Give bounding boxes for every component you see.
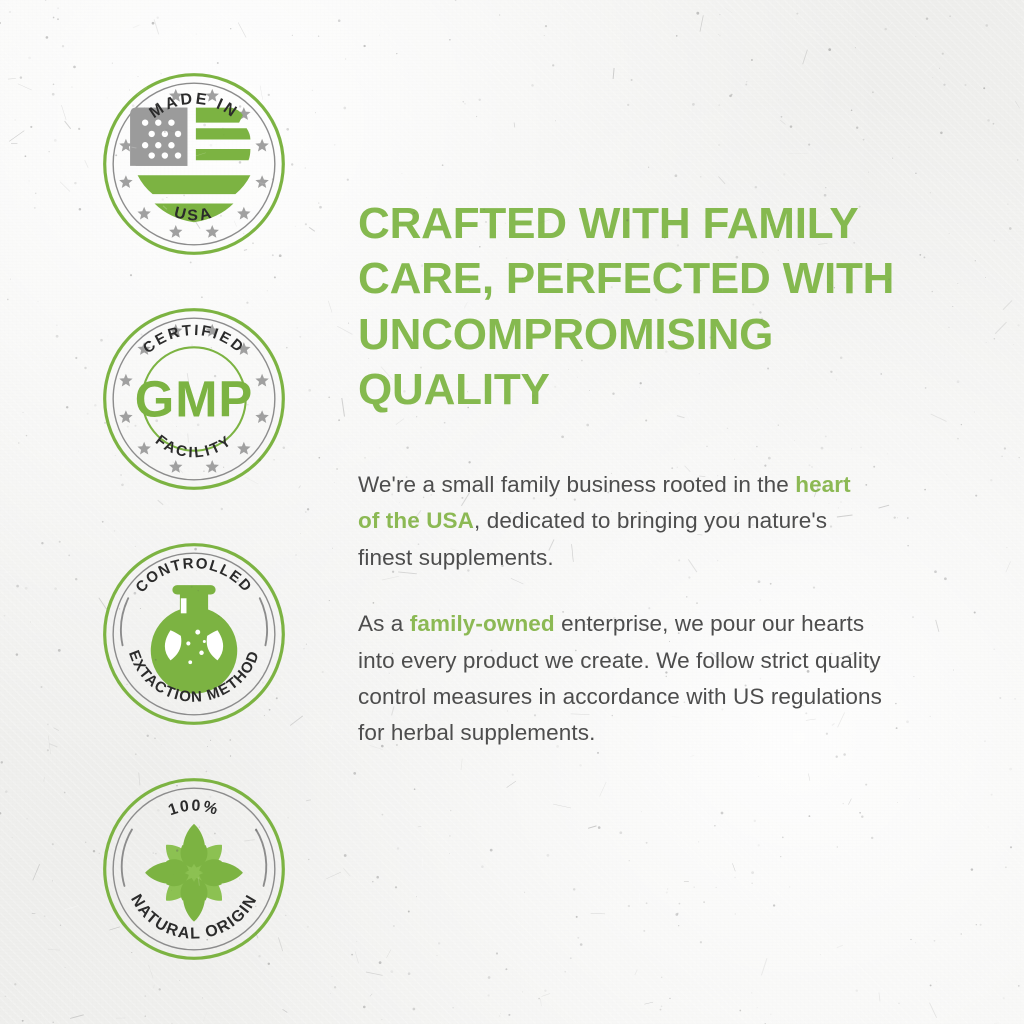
- badge-star-icon: [137, 207, 150, 220]
- badge-star-icon: [119, 175, 132, 188]
- badge-star-icon: [255, 374, 268, 387]
- svg-text:FACILITY: FACILITY: [152, 432, 236, 462]
- badge-right-arc: [260, 598, 267, 645]
- badge-bottom-text: FACILITY: [152, 432, 236, 462]
- badge-star-icon: [237, 207, 250, 220]
- flask-leaf-icon: [151, 585, 237, 694]
- controlled-extraction-badge-graphic: CONTROLLED EXTACTION METHOD: [100, 540, 288, 728]
- badge-star-icon: [206, 460, 219, 473]
- badge-left-arc: [122, 830, 132, 886]
- badge-top-text: MADE IN: [147, 90, 242, 121]
- badge-top-text: 100%: [166, 798, 221, 820]
- intro-paragraph: We're a small family business rooted in …: [358, 467, 853, 576]
- made-in-usa-badge: MADE IN USA: [100, 70, 288, 258]
- svg-text:100%: 100%: [166, 798, 221, 820]
- gmp-certified-badge: GMP CERTIFIED FACILITY: [100, 305, 288, 493]
- badge-star-icon: [255, 139, 268, 152]
- page-headline: CRAFTED WITH FAMILY CARE, PERFECTED WITH…: [358, 196, 918, 418]
- badge-star-icon: [119, 374, 132, 387]
- badge-star-icon: [169, 460, 182, 473]
- body-text-run: We're a small family business rooted in …: [358, 472, 795, 497]
- badge-star-icon: [206, 225, 219, 238]
- badge-star-icon: [137, 442, 150, 455]
- badge-right-arc: [256, 830, 266, 886]
- natural-origin-badge: 100% NATURAL ORIGIN: [100, 775, 288, 963]
- badge-star-icon: [255, 175, 268, 188]
- highlighted-phrase: family-owned: [410, 611, 555, 636]
- usa-flag-icon: [130, 108, 250, 223]
- content-column: CRAFTED WITH FAMILY CARE, PERFECTED WITH…: [358, 196, 918, 752]
- gmp-certified-badge-graphic: GMP CERTIFIED FACILITY: [100, 305, 288, 493]
- badge-star-icon: [237, 442, 250, 455]
- certification-badge-column: MADE IN USA GMP: [100, 70, 288, 1010]
- natural-origin-badge-graphic: 100% NATURAL ORIGIN: [100, 775, 288, 963]
- badge-center-text: GMP: [135, 371, 253, 428]
- quality-paragraph: As a family-owned enterprise, we pour ou…: [358, 606, 883, 752]
- made-in-usa-badge-graphic: MADE IN USA: [100, 70, 288, 258]
- body-text-run: As a: [358, 611, 410, 636]
- svg-text:MADE IN: MADE IN: [147, 90, 242, 121]
- badge-star-icon: [255, 410, 268, 423]
- leaf-rosette-icon: [145, 824, 243, 922]
- badge-star-icon: [169, 225, 182, 238]
- badge-left-arc: [121, 598, 128, 645]
- controlled-extraction-badge: CONTROLLED EXTACTION METHOD: [100, 540, 288, 728]
- badge-star-icon: [119, 410, 132, 423]
